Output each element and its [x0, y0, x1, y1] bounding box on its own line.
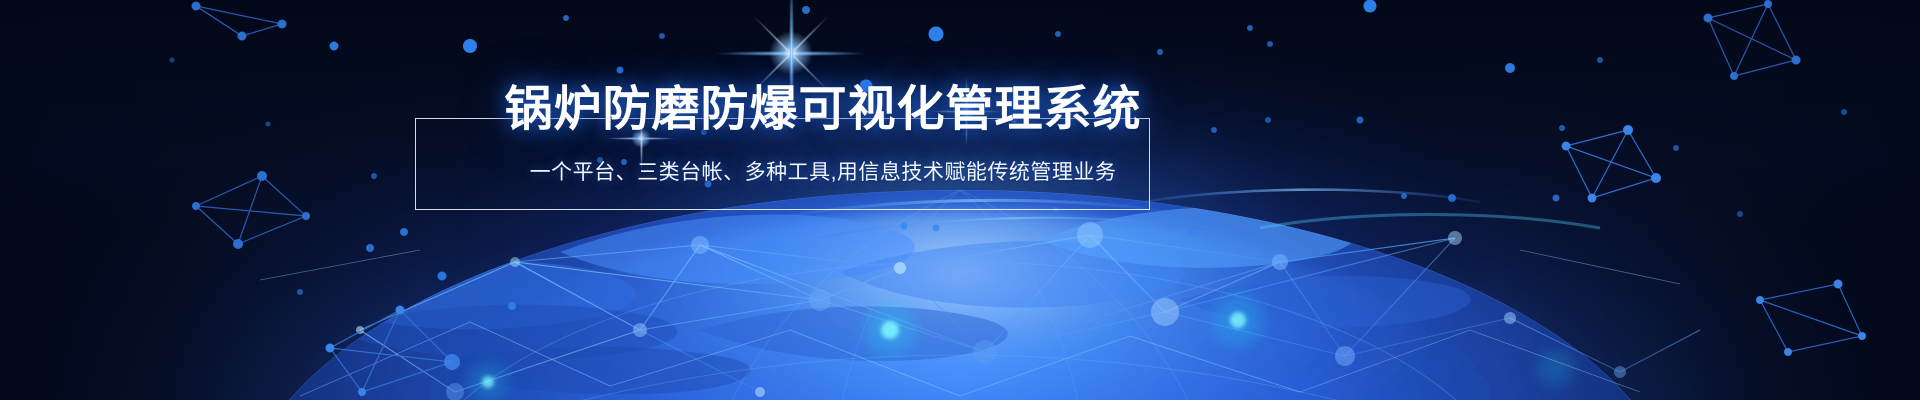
constellation-cluster-top-right — [1708, 4, 1796, 76]
constellation-nodes-left — [192, 171, 310, 249]
hero-banner: 锅炉防磨防爆可视化管理系统 一个平台、三类台帐、多种工具,用信息技术赋能传统管理… — [0, 0, 1920, 400]
constellation-cluster-top-left — [196, 6, 282, 36]
constellation-nodes-top-left — [192, 2, 287, 41]
globe-network-graphic — [0, 0, 1920, 400]
constellation-cluster-bottom-right — [1760, 284, 1862, 352]
constellation-cluster-left — [196, 176, 306, 244]
constellation-nodes-right — [1562, 125, 1662, 203]
constellation-cluster-right — [1566, 130, 1656, 198]
